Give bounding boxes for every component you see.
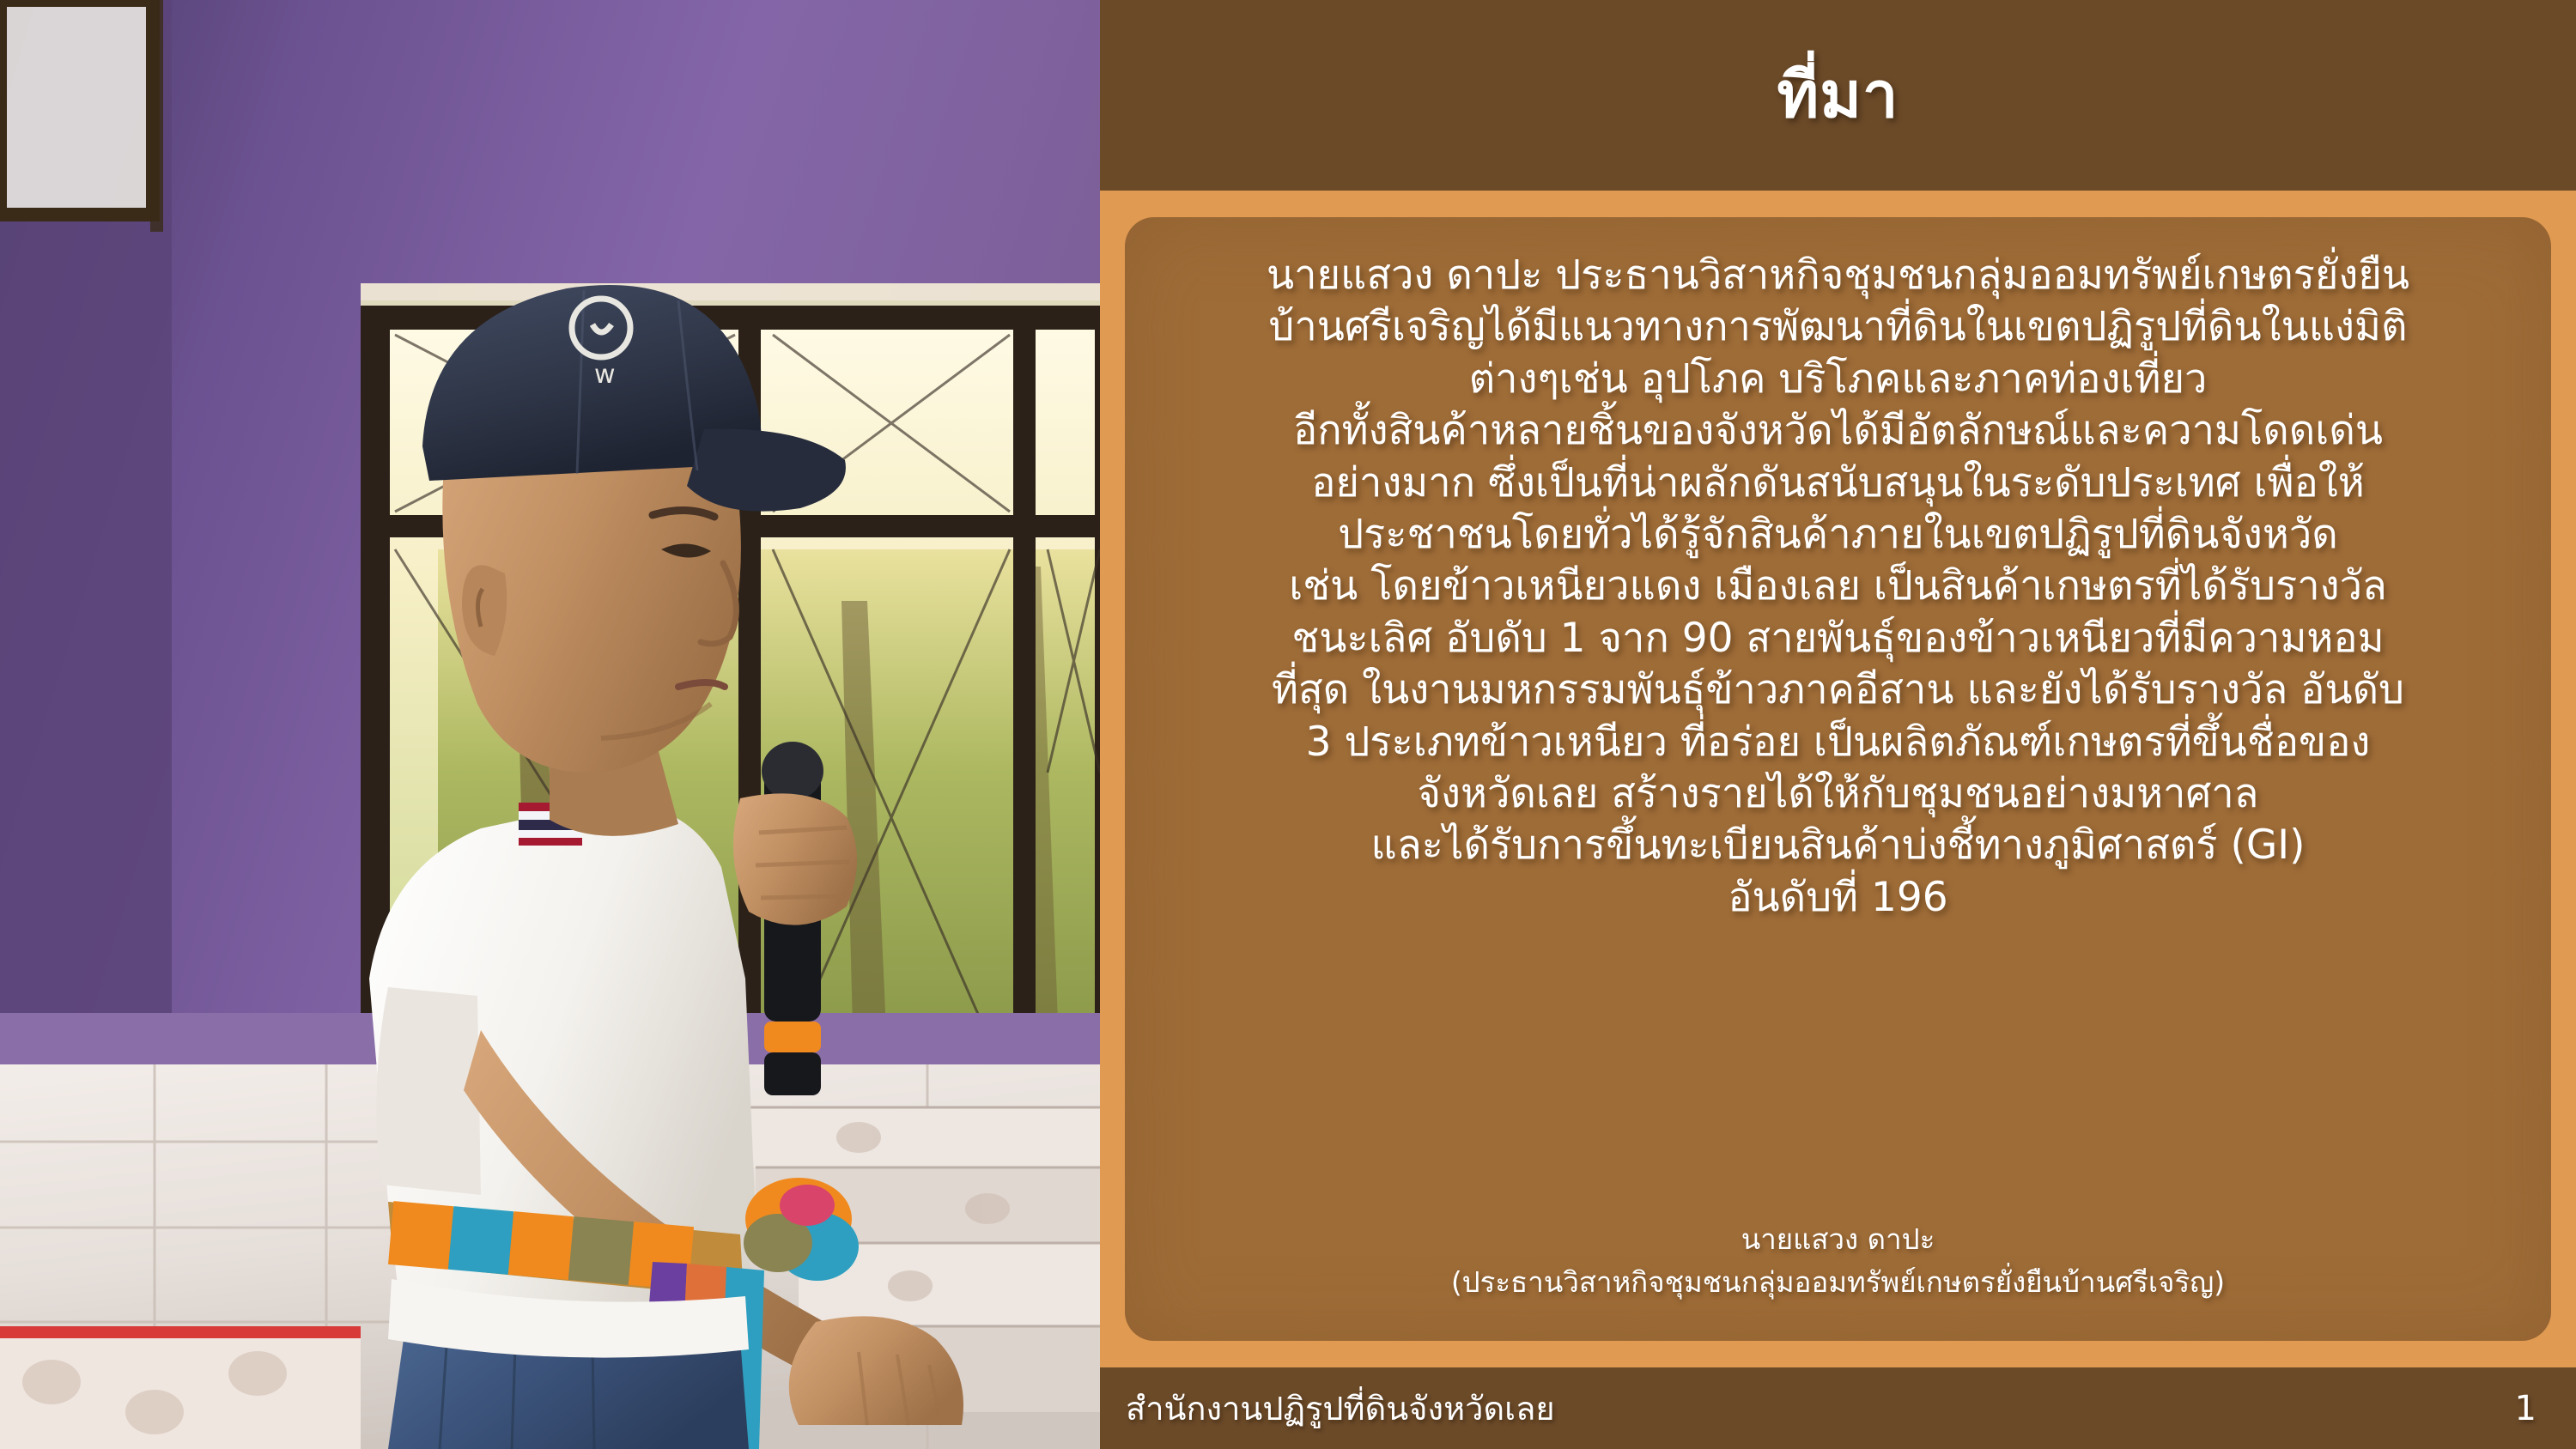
- body-line: เช่น โดยข้าวเหนียวแดง เมืองเลย เป็นสินค้…: [1154, 561, 2522, 612]
- body-line: และได้รับการขึ้นทะเบียนสินค้าบ่งชี้ทางภู…: [1154, 820, 2522, 871]
- content-panel: ที่มา นายแสวง ดาปะ ประธานวิสาหกิจชุมชนกล…: [1100, 0, 2576, 1449]
- orange-frame: นายแสวง ดาปะ ประธานวิสาหกิจชุมชนกลุ่มออม…: [1100, 191, 2576, 1367]
- body-line: อันดับที่ 196: [1154, 872, 2522, 924]
- body-text: นายแสวง ดาปะ ประธานวิสาหกิจชุมชนกลุ่มออม…: [1154, 250, 2522, 924]
- speaker-photo: w: [0, 0, 1100, 1449]
- title-area: ที่มา: [1100, 0, 2576, 191]
- presentation-slide: w ที่มา นายแสวง ดา: [0, 0, 2576, 1449]
- body-line: ที่สุด ในงานมหกรรมพันธุ์ข้าวภาคอีสาน และ…: [1154, 664, 2522, 716]
- footer-bar: สำนักงานปฏิรูปที่ดินจังหวัดเลย 1: [1100, 1367, 2576, 1449]
- body-line: อีกทั้งสินค้าหลายชิ้นของจังหวัดได้มีอัตล…: [1154, 405, 2522, 457]
- svg-text:w: w: [594, 360, 616, 390]
- footer-organization: สำนักงานปฏิรูปที่ดินจังหวัดเลย: [1126, 1392, 1555, 1425]
- body-line: บ้านศรีเจริญได้มีแนวทางการพัฒนาที่ดินในเ…: [1154, 301, 2522, 353]
- body-line: ชนะเลิศ อับดับ 1 จาก 90 สายพันธุ์ของข้าว…: [1154, 613, 2522, 664]
- body-line: นายแสวง ดาปะ ประธานวิสาหกิจชุมชนกลุ่มออม…: [1154, 250, 2522, 301]
- body-line: อย่างมาก ซึ่งเป็นที่น่าผลักดันสนับสนุนใน…: [1154, 458, 2522, 509]
- body-line: ประชาชนโดยทั่วได้รู้จักสินค้าภายในเขตปฏิ…: [1154, 509, 2522, 561]
- photo-illustration: w: [0, 0, 1100, 1449]
- body-line: จังหวัดเลย สร้างรายได้ให้กับชุมชนอย่างมห…: [1154, 768, 2522, 820]
- page-title: ที่มา: [1777, 64, 1899, 127]
- content-card: นายแสวง ดาปะ ประธานวิสาหกิจชุมชนกลุ่มออม…: [1125, 217, 2551, 1341]
- body-line: ต่างๆเช่น อุปโภค บริโภคและภาคท่องเที่ยว: [1154, 354, 2522, 405]
- attribution-name: นายแสวง ดาปะ: [1154, 1218, 2522, 1261]
- page-number: 1: [2515, 1391, 2537, 1426]
- attribution-block: นายแสวง ดาปะ (ประธานวิสาหกิจชุมชนกลุ่มออ…: [1154, 1218, 2522, 1319]
- attribution-role: (ประธานวิสาหกิจชุมชนกลุ่มออมทรัพย์เกษตรย…: [1154, 1261, 2522, 1304]
- body-line: 3 ประเภทข้าวเหนียว ที่อร่อย เป็นผลิตภัณฑ…: [1154, 717, 2522, 768]
